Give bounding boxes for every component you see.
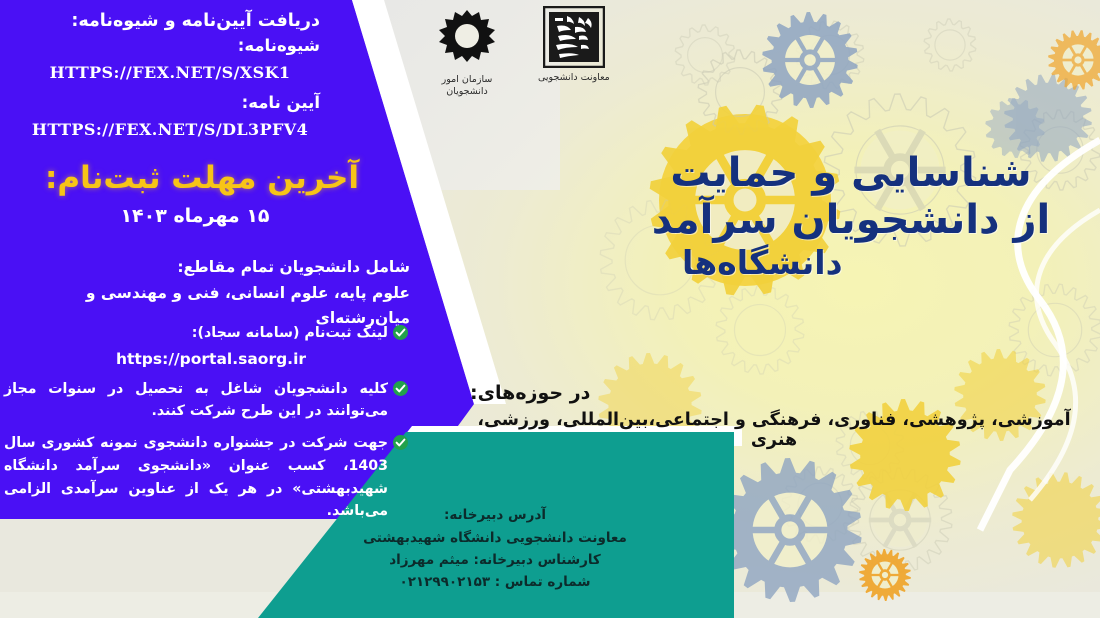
title-line-1: شناسایی و حمایت (616, 150, 1086, 197)
check-circle-icon (393, 325, 408, 340)
bullet-text-registration-link: لینک ثبت‌نام (سامانه سجاد): (192, 322, 388, 345)
shahid-beheshti-logo-icon (543, 6, 605, 68)
logo-shahid-beheshti: معاونت دانشجویی (538, 6, 610, 83)
fields-block: در حوزه‌های: آموزشی، پژوهشی، فناوری، فره… (464, 382, 1084, 450)
inclusion-block: شامل دانشجویان تمام مقاطع: علوم پایه، عل… (10, 255, 410, 332)
logo-caption-line1: سازمان امور (442, 74, 493, 86)
logo-caption-student-affairs: سازمان امور دانشجویان (442, 74, 493, 98)
download-label-ayinname: آیین نامه: (20, 91, 320, 116)
registration-portal-url[interactable]: https://portal.saorg.ir (14, 350, 408, 368)
title-line-3: دانشگاه‌ها (616, 244, 1086, 283)
secretariat-line-2: کارشناس دبیرخانه: میثم مهرزاد (330, 550, 660, 572)
downloads-block: دریافت آیین‌نامه و شیوه‌نامه: شیوه‌نامه:… (20, 8, 320, 148)
check-circle-icon (393, 381, 408, 396)
download-url-ayinname[interactable]: HTTPS://FEX.NET/S/DL3PFV4 (20, 118, 320, 142)
poster-canvas: معاونت دانشجویی سازمان امور دانشجویان در… (0, 0, 1100, 618)
logo-row: معاونت دانشجویی سازمان امور دانشجویان (432, 6, 610, 98)
download-item-ayinname: آیین نامه: HTTPS://FEX.NET/S/DL3PFV4 (20, 91, 320, 142)
fields-heading: در حوزه‌های: (464, 382, 1084, 404)
deadline-title: آخرین مهلت ثبت‌نام: (0, 160, 404, 196)
inclusion-line-1: شامل دانشجویان تمام مقاطع: (10, 255, 410, 281)
check-circle-icon (393, 435, 408, 450)
deadline-date: ۱۵ مهرماه ۱۴۰۳ (0, 205, 390, 227)
title-line-2: از دانشجویان سرآمد (616, 197, 1086, 244)
logo-caption-beheshti: معاونت دانشجویی (538, 72, 610, 83)
bullet-list: لینک ثبت‌نام (سامانه سجاد): https://port… (4, 322, 408, 532)
secretariat-phone: شماره تماس : ۰۲۱۲۹۹۰۲۱۵۳ (330, 572, 660, 594)
secretariat-block: آدرس دبیرخانه: معاونت دانشجویی دانشگاه ش… (330, 505, 660, 593)
bullet-item-eligibility: کلیه دانشجویان شاغل به تحصیل در سنوات مج… (4, 378, 408, 423)
download-label-shivename: شیوه‌نامه: (20, 34, 320, 59)
student-affairs-logo-icon (432, 6, 502, 70)
downloads-heading: دریافت آیین‌نامه و شیوه‌نامه: (20, 8, 320, 34)
logo-caption-line2: دانشجویان (442, 86, 493, 98)
secretariat-heading: آدرس دبیرخانه: (330, 505, 660, 527)
main-title: شناسایی و حمایت از دانشجویان سرآمد دانشگ… (616, 150, 1086, 283)
fields-list: آموزشی، پژوهشی، فناوری، فرهنگی و اجتماعی… (464, 410, 1084, 450)
bullet-text-eligibility: کلیه دانشجویان شاغل به تحصیل در سنوات مج… (4, 378, 388, 423)
logo-student-affairs: سازمان امور دانشجویان (432, 6, 502, 98)
secretariat-line-1: معاونت دانشجویی دانشگاه شهیدبهشتی (330, 528, 660, 550)
download-url-shivename[interactable]: HTTPS://FEX.NET/S/XSK1 (20, 61, 320, 85)
download-item-shivename: شیوه‌نامه: HTTPS://FEX.NET/S/XSK1 (20, 34, 320, 85)
bullet-item-registration-link: لینک ثبت‌نام (سامانه سجاد): (4, 322, 408, 345)
